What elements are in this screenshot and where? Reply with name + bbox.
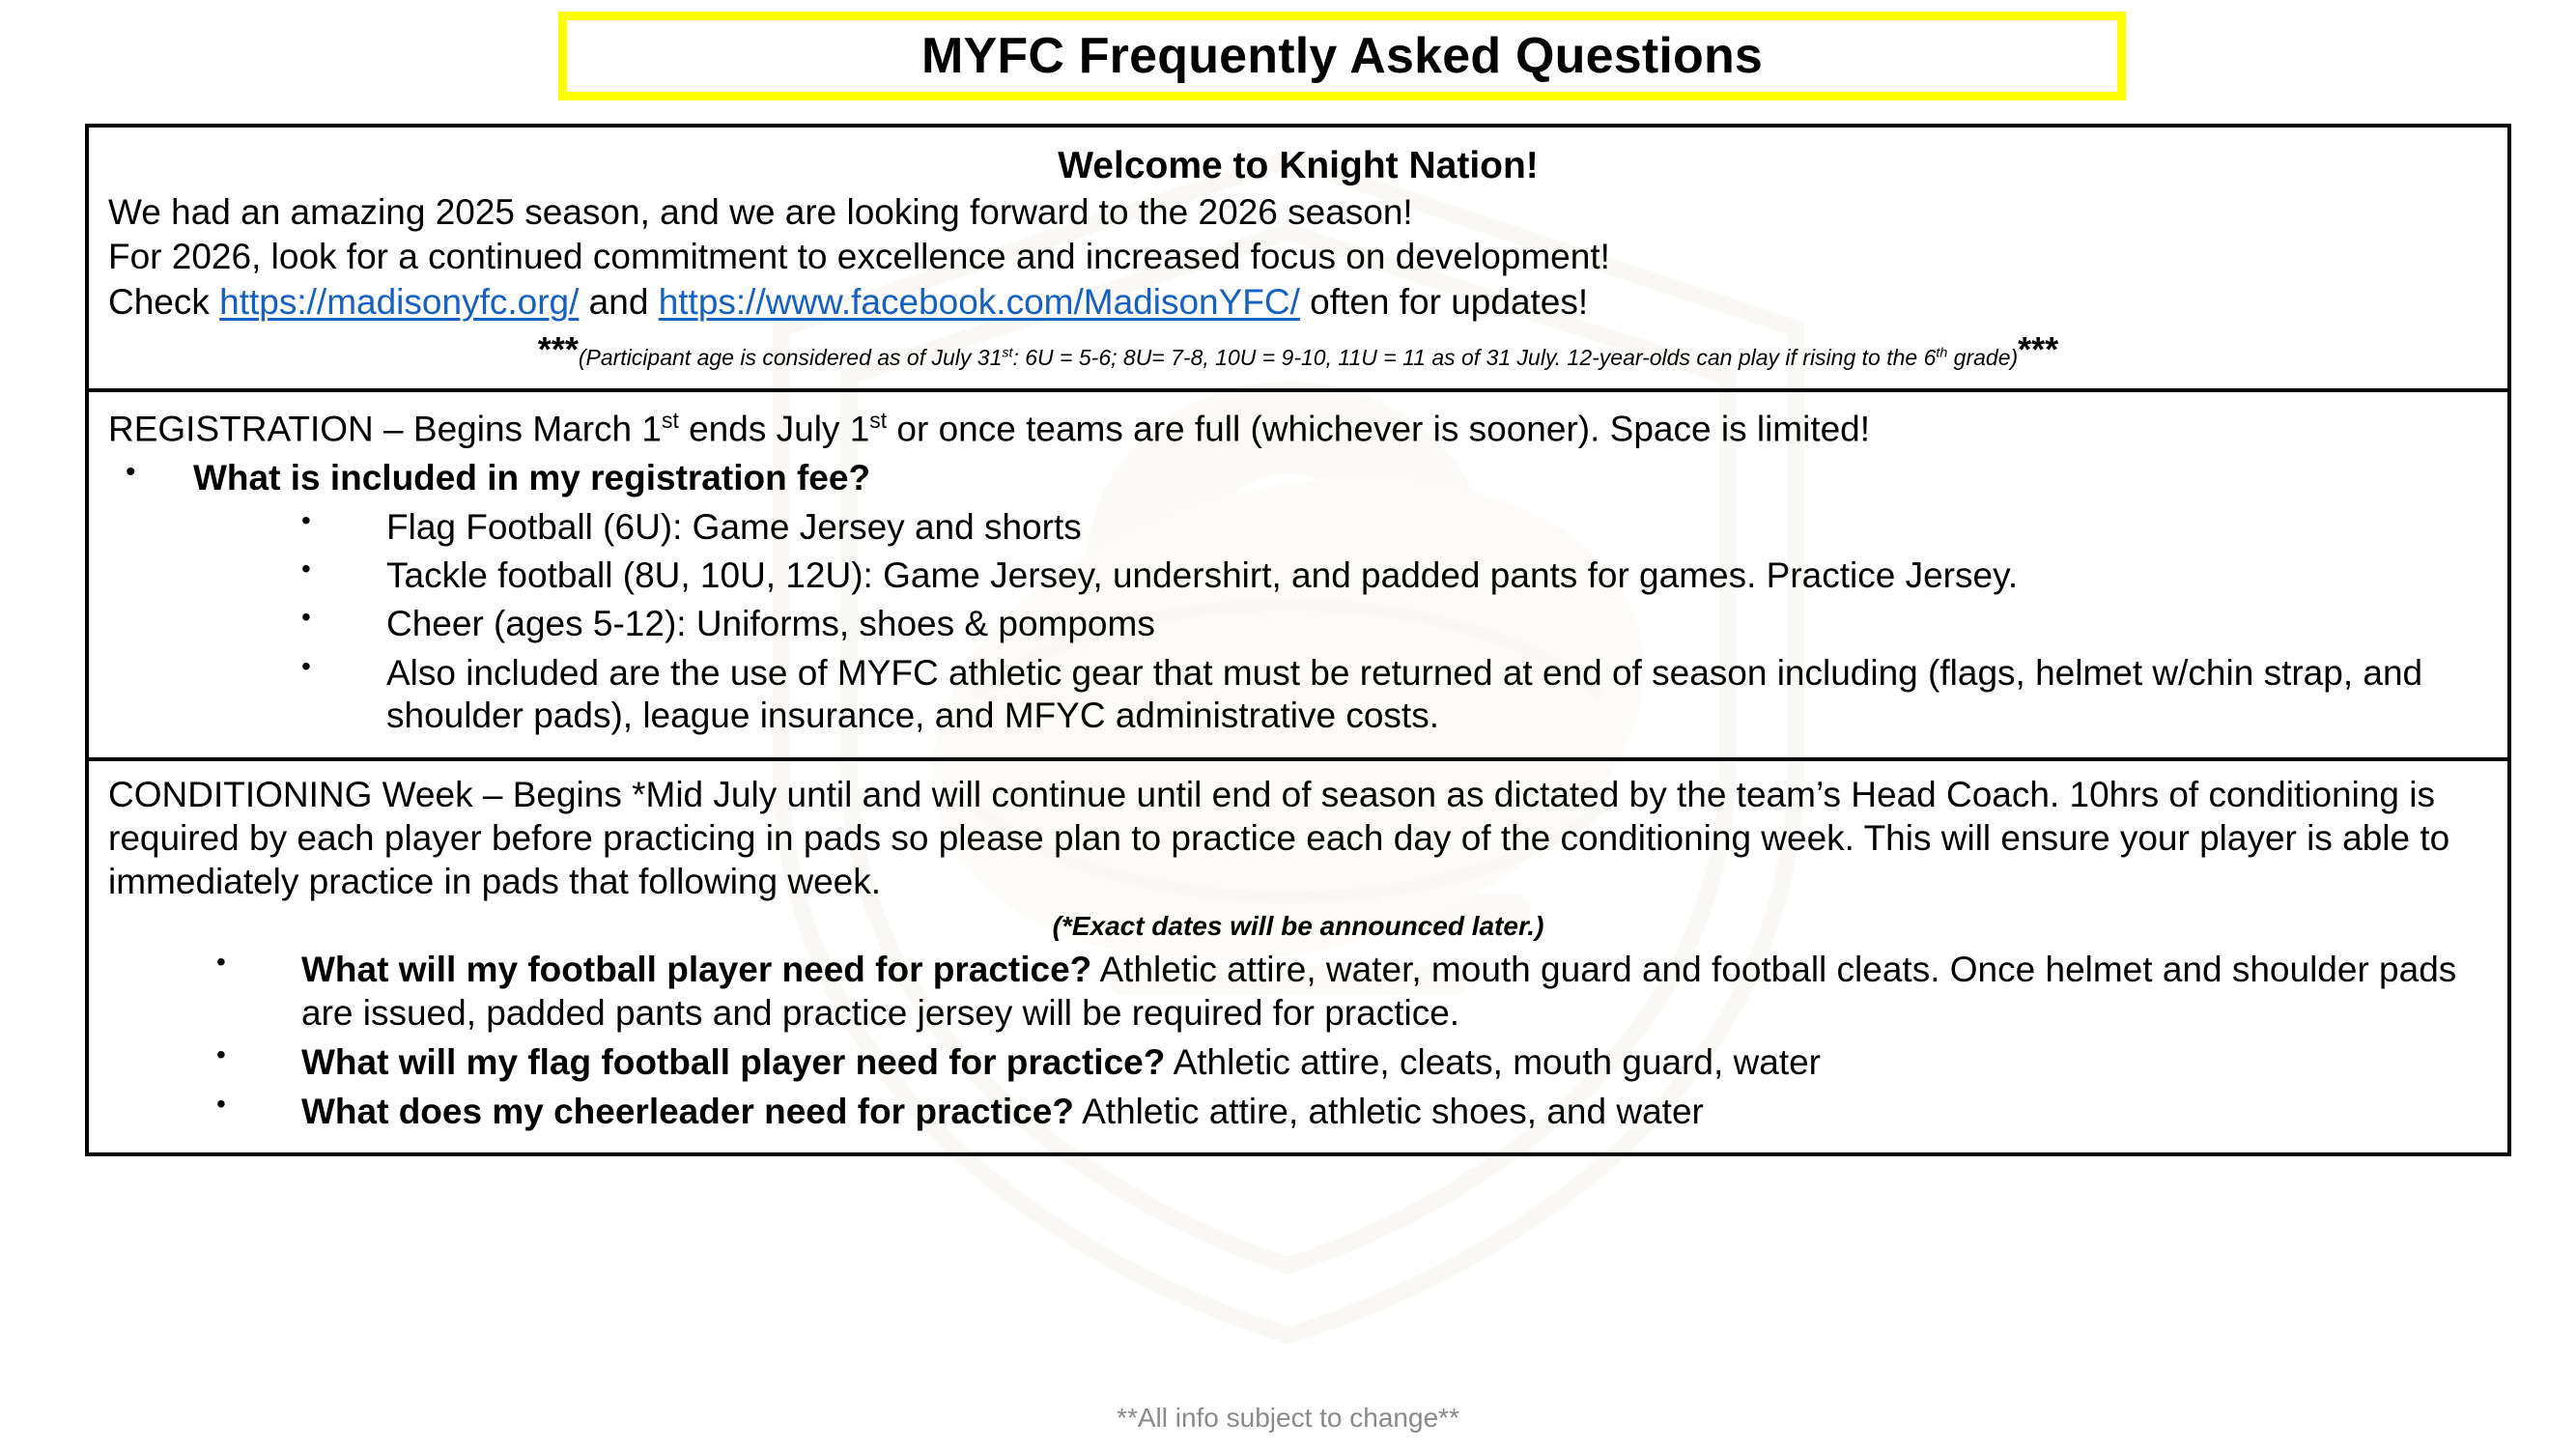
question-cheerleader-practice: What does my cheerleader need for practi… — [301, 1092, 1074, 1131]
list-item: Flag Football (6U): Game Jersey and shor… — [193, 506, 2488, 549]
stars-left: *** — [538, 329, 579, 369]
registration-heading-c: or once teams are full (whichever is soo… — [887, 410, 1870, 449]
list-item: What is included in my registration fee?… — [108, 457, 2488, 737]
registration-heading: REGISTRATION – Begins March 1st ends Jul… — [108, 408, 2488, 451]
list-item: What will my flag football player need f… — [108, 1040, 2488, 1084]
faq-page: MYFC Frequently Asked Questions Welcome … — [0, 0, 2576, 1449]
check-label: Check — [108, 282, 219, 322]
age-note-part-b: : 6U = 5-6; 8U= 7-8, 10U = 9-10, 11U = 1… — [1012, 345, 1936, 370]
registration-heading-b: ends July 1 — [679, 410, 869, 449]
content-frame: Welcome to Knight Nation! We had an amaz… — [85, 124, 2511, 1156]
registration-heading-a: REGISTRATION – Begins March 1 — [108, 410, 662, 449]
conditioning-question-list: What will my football player need for pr… — [108, 948, 2488, 1134]
updates-label: often for updates! — [1300, 282, 1588, 322]
registration-included-list: Flag Football (6U): Game Jersey and shor… — [193, 506, 2488, 738]
list-item: What will my football player need for pr… — [108, 948, 2488, 1035]
question-football-practice: What will my football player need for pr… — [301, 950, 1091, 989]
age-note-part-a: (Participant age is considered as of Jul… — [579, 345, 1003, 370]
stars-right: *** — [2018, 329, 2058, 369]
welcome-line-1: We had an amazing 2025 season, and we ar… — [108, 191, 2488, 234]
list-item: What does my cheerleader need for practi… — [108, 1090, 2488, 1133]
title-banner: MYFC Frequently Asked Questions — [558, 12, 2126, 100]
list-item: Also included are the use of MYFC athlet… — [193, 652, 2488, 738]
registration-fee-question: What is included in my registration fee? — [193, 458, 870, 497]
age-eligibility-note: ***(Participant age is considered as of … — [108, 329, 2488, 371]
welcome-heading: Welcome to Knight Nation! — [108, 145, 2488, 187]
age-note-sup-st: st — [1002, 346, 1012, 361]
conditioning-paragraph: CONDITIONING Week – Begins *Mid July unt… — [108, 773, 2488, 903]
list-item: Tackle football (8U, 10U, 12U): Game Jer… — [193, 554, 2488, 597]
registration-section: REGISTRATION – Begins March 1st ends Jul… — [89, 388, 2507, 756]
list-item: Cheer (ages 5-12): Uniforms, shoes & pom… — [193, 603, 2488, 645]
conditioning-section: CONDITIONING Week – Begins *Mid July unt… — [89, 757, 2507, 1153]
page-title: MYFC Frequently Asked Questions — [921, 27, 1763, 85]
link-facebook-madisonyfc[interactable]: https://www.facebook.com/MadisonYFC/ — [659, 282, 1300, 322]
link-madisonyfc[interactable]: https://madisonyfc.org/ — [219, 282, 579, 322]
welcome-section: Welcome to Knight Nation! We had an amaz… — [89, 128, 2507, 388]
age-note-text: (Participant age is considered as of Jul… — [579, 345, 2018, 370]
answer-cheerleader-practice: Athletic attire, athletic shoes, and wat… — [1074, 1092, 1704, 1131]
registration-sup-st-2: st — [869, 408, 887, 433]
question-flag-football-practice: What will my flag football player need f… — [301, 1042, 1165, 1082]
registration-sup-st-1: st — [662, 408, 679, 433]
welcome-line-2: For 2026, look for a continued commitmen… — [108, 236, 2488, 278]
exact-dates-note: (*Exact dates will be announced later.) — [108, 911, 2488, 942]
answer-flag-football-practice: Athletic attire, cleats, mouth guard, wa… — [1165, 1042, 1821, 1082]
age-note-sup-th: th — [1936, 346, 1947, 361]
registration-question-list: What is included in my registration fee?… — [108, 457, 2488, 737]
age-note-part-c: grade) — [1947, 345, 2018, 370]
welcome-line-3: Check https://madisonyfc.org/ and https:… — [108, 281, 2488, 324]
footer-disclaimer: **All info subject to change** — [0, 1403, 2576, 1434]
and-label: and — [579, 282, 658, 322]
